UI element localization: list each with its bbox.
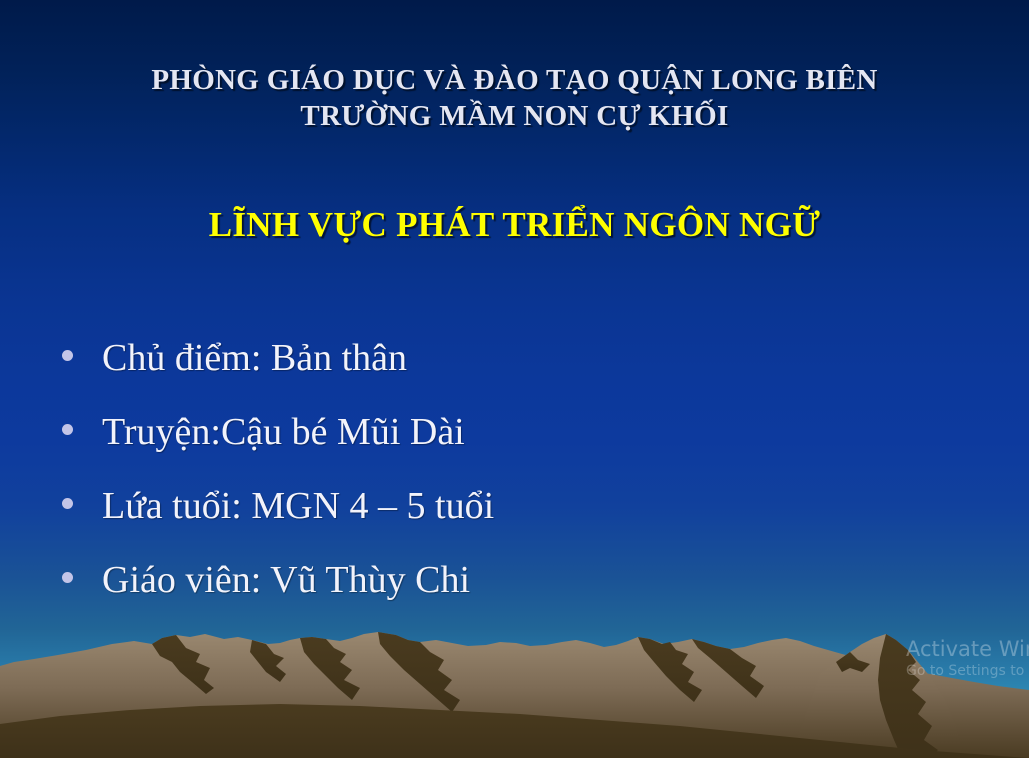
mountain-silhouette-graphic — [0, 628, 1029, 758]
presentation-slide: PHÒNG GIÁO DỤC VÀ ĐÀO TẠO QUẬN LONG BIÊN… — [0, 0, 1029, 758]
bullet-dot-icon — [62, 572, 73, 583]
slide-bullet-list: Chủ điểm: Bản thân Truyện:Cậu bé Mũi Dài… — [62, 336, 962, 632]
list-item: Truyện:Cậu bé Mũi Dài — [62, 410, 962, 484]
bullet-label-topic: Chủ điểm: Bản thân — [102, 336, 407, 380]
bullet-label-teacher: Giáo viên: Vũ Thùy Chi — [102, 558, 470, 602]
bullet-dot-icon — [62, 350, 73, 361]
list-item: Chủ điểm: Bản thân — [62, 336, 962, 410]
bullet-label-age: Lứa tuổi: MGN 4 – 5 tuổi — [102, 484, 494, 528]
bullet-label-story: Truyện:Cậu bé Mũi Dài — [102, 410, 465, 454]
slide-subtitle: LĨNH VỰC PHÁT TRIỂN NGÔN NGỮ — [0, 203, 1029, 247]
list-item: Lứa tuổi: MGN 4 – 5 tuổi — [62, 484, 962, 558]
slide-title-block: PHÒNG GIÁO DỤC VÀ ĐÀO TẠO QUẬN LONG BIÊN… — [0, 62, 1029, 134]
bullet-dot-icon — [62, 424, 73, 435]
list-item: Giáo viên: Vũ Thùy Chi — [62, 558, 962, 632]
slide-title-line-1: PHÒNG GIÁO DỤC VÀ ĐÀO TẠO QUẬN LONG BIÊN — [0, 62, 1029, 98]
slide-title-line-2: TRƯỜNG MẦM NON CỰ KHỐI — [0, 98, 1029, 134]
bullet-dot-icon — [62, 498, 73, 509]
